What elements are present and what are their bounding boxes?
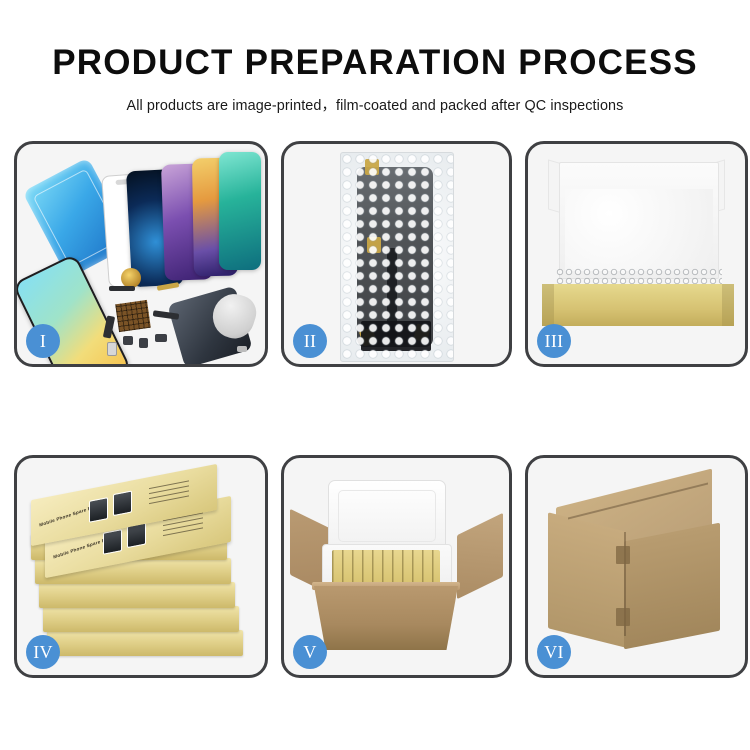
step-badge-5: V <box>293 635 327 669</box>
page-subtitle: All products are image-printed，film-coat… <box>0 82 750 115</box>
panel-carton-with-foam[interactable]: V <box>281 455 512 678</box>
panel-phones-and-parts[interactable]: I <box>14 141 268 367</box>
page-header: PRODUCT PREPARATION PROCESS All products… <box>0 0 750 115</box>
panel-open-inner-box[interactable]: III <box>525 141 748 367</box>
foam-padding <box>565 189 713 271</box>
cardboard-carton-body <box>314 586 458 650</box>
box-screen-image-1 <box>89 497 108 523</box>
stacked-box-3 <box>39 582 235 608</box>
bubble-texture <box>341 153 453 361</box>
phone-screen-teal <box>219 152 261 270</box>
panel-bubble-wrapped-screen[interactable]: II <box>281 141 512 367</box>
step-badge-3: III <box>537 324 571 358</box>
step-badge-1: I <box>26 324 60 358</box>
logic-board-chip <box>115 300 151 332</box>
yellow-box-front <box>542 284 734 326</box>
foam-lid-open <box>328 480 446 552</box>
sim-tray <box>107 342 117 356</box>
step-badge-6: VI <box>537 635 571 669</box>
stacked-box-4 <box>43 606 239 632</box>
stacked-box-5 <box>47 630 243 656</box>
step-badge-4: IV <box>26 635 60 669</box>
carton-left-face <box>548 512 626 647</box>
carton-flap-right <box>457 513 503 599</box>
small-component-3 <box>155 334 167 342</box>
carton-tape-lower <box>616 608 630 626</box>
carton-right-face <box>624 523 720 650</box>
page-title: PRODUCT PREPARATION PROCESS <box>0 0 750 82</box>
wireless-charging-coil <box>121 268 141 288</box>
box-screen-image-2 <box>113 490 132 516</box>
white-foam-lid <box>559 162 719 279</box>
process-step-grid: I II III <box>14 141 736 678</box>
box-screen-image-3 <box>103 529 122 555</box>
carton-tape-upper <box>616 546 630 564</box>
step-badge-2: II <box>293 324 327 358</box>
panel-stacked-retail-boxes[interactable]: Mobile Phone Spare Parts Mobile Phone Sp… <box>14 455 268 678</box>
screw-set <box>237 346 247 352</box>
panel-sealed-carton[interactable]: VI <box>525 455 748 678</box>
flex-cable-1 <box>109 286 135 291</box>
box-spec-line-1 <box>149 480 189 489</box>
bubble-wrap-bag <box>340 152 454 362</box>
small-component-1 <box>123 336 133 345</box>
small-component-2 <box>139 338 148 348</box>
